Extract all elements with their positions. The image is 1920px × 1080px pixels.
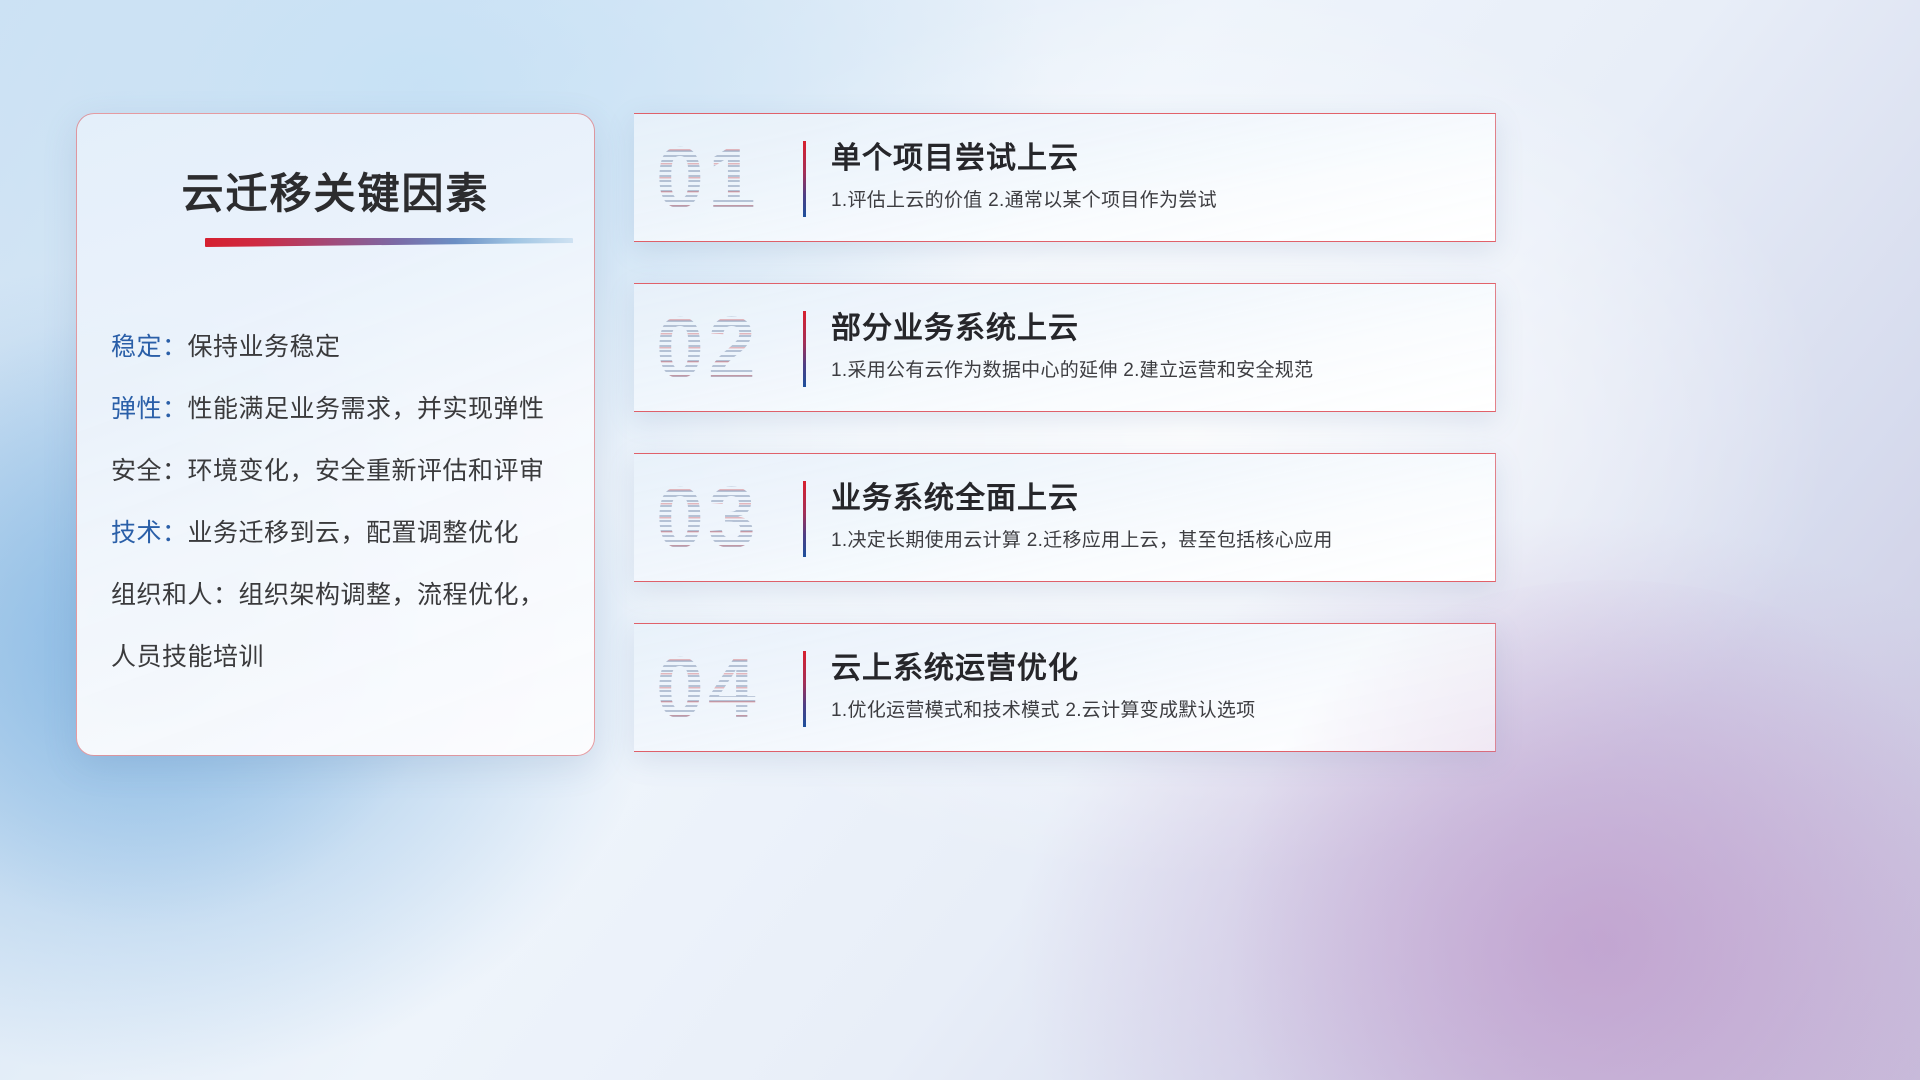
factor-label: 安全：: [111, 457, 188, 485]
step-card-body: 部分业务系统上云 1.采用公有云作为数据中心的延伸 2.建立运营和安全规范: [831, 308, 1475, 385]
migration-steps-list: 01 01 单个项目尝试上云 1.评估上云的价值 2.通常以某个项目作为尝试 0…: [634, 113, 1496, 752]
page-title: 云迁移关键因素: [77, 160, 594, 221]
factor-label: 组织和人：: [111, 581, 239, 609]
factor-text: 业务迁移到云，配置调整优化: [188, 519, 520, 547]
step-card-body: 单个项目尝试上云 1.评估上云的价值 2.通常以某个项目作为尝试: [831, 138, 1475, 215]
step-description: 1.采用公有云作为数据中心的延伸 2.建立运营和安全规范: [831, 357, 1475, 385]
factor-text: 环境变化，安全重新评估和评审: [188, 457, 545, 485]
list-item: 人员技能培训: [111, 626, 578, 688]
step-number-watermark-tint: 04: [656, 645, 760, 731]
slide-canvas: 云迁移关键因素 稳定：保持业务稳定 弹性：性能满足业务需求，并实现弹性 安全：环…: [0, 0, 1920, 1080]
step-title: 业务系统全面上云: [831, 478, 1475, 520]
step-number-watermark-tint: 01: [656, 135, 760, 221]
factor-label: 稳定：: [111, 333, 188, 361]
factor-label: 技术：: [111, 519, 188, 547]
accent-bar-icon: [803, 141, 806, 217]
step-title: 单个项目尝试上云: [831, 138, 1475, 180]
key-factors-panel: 云迁移关键因素 稳定：保持业务稳定 弹性：性能满足业务需求，并实现弹性 安全：环…: [76, 113, 595, 756]
factor-text: 人员技能培训: [111, 643, 264, 671]
factor-text: 组织架构调整，流程优化，: [239, 581, 545, 609]
list-item: 技术：业务迁移到云，配置调整优化: [111, 502, 578, 564]
step-description: 1.优化运营模式和技术模式 2.云计算变成默认选项: [831, 697, 1475, 725]
step-card-02[interactable]: 02 02 部分业务系统上云 1.采用公有云作为数据中心的延伸 2.建立运营和安…: [634, 283, 1496, 412]
step-card-04[interactable]: 04 04 云上系统运营优化 1.优化运营模式和技术模式 2.云计算变成默认选项: [634, 623, 1496, 752]
accent-bar-icon: [803, 481, 806, 557]
list-item: 组织和人：组织架构调整，流程优化，: [111, 564, 578, 626]
step-card-03[interactable]: 03 03 业务系统全面上云 1.决定长期使用云计算 2.迁移应用上云，甚至包括…: [634, 453, 1496, 582]
step-number-watermark-tint: 03: [656, 475, 760, 561]
step-description: 1.评估上云的价值 2.通常以某个项目作为尝试: [831, 187, 1475, 215]
factor-text: 性能满足业务需求，并实现弹性: [188, 395, 545, 423]
key-factors-list: 稳定：保持业务稳定 弹性：性能满足业务需求，并实现弹性 安全：环境变化，安全重新…: [111, 316, 578, 688]
title-underline-rule: [205, 238, 573, 247]
factor-text: 保持业务稳定: [188, 333, 341, 361]
list-item: 稳定：保持业务稳定: [111, 316, 578, 378]
step-title: 部分业务系统上云: [831, 308, 1475, 350]
factor-label: 弹性：: [111, 395, 188, 423]
accent-bar-icon: [803, 651, 806, 727]
step-number-watermark-tint: 02: [656, 305, 760, 391]
list-item: 弹性：性能满足业务需求，并实现弹性: [111, 378, 578, 440]
list-item: 安全：环境变化，安全重新评估和评审: [111, 440, 578, 502]
step-card-body: 云上系统运营优化 1.优化运营模式和技术模式 2.云计算变成默认选项: [831, 648, 1475, 725]
accent-bar-icon: [803, 311, 806, 387]
step-description: 1.决定长期使用云计算 2.迁移应用上云，甚至包括核心应用: [831, 527, 1475, 555]
step-card-body: 业务系统全面上云 1.决定长期使用云计算 2.迁移应用上云，甚至包括核心应用: [831, 478, 1475, 555]
step-title: 云上系统运营优化: [831, 648, 1475, 690]
step-card-01[interactable]: 01 01 单个项目尝试上云 1.评估上云的价值 2.通常以某个项目作为尝试: [634, 113, 1496, 242]
